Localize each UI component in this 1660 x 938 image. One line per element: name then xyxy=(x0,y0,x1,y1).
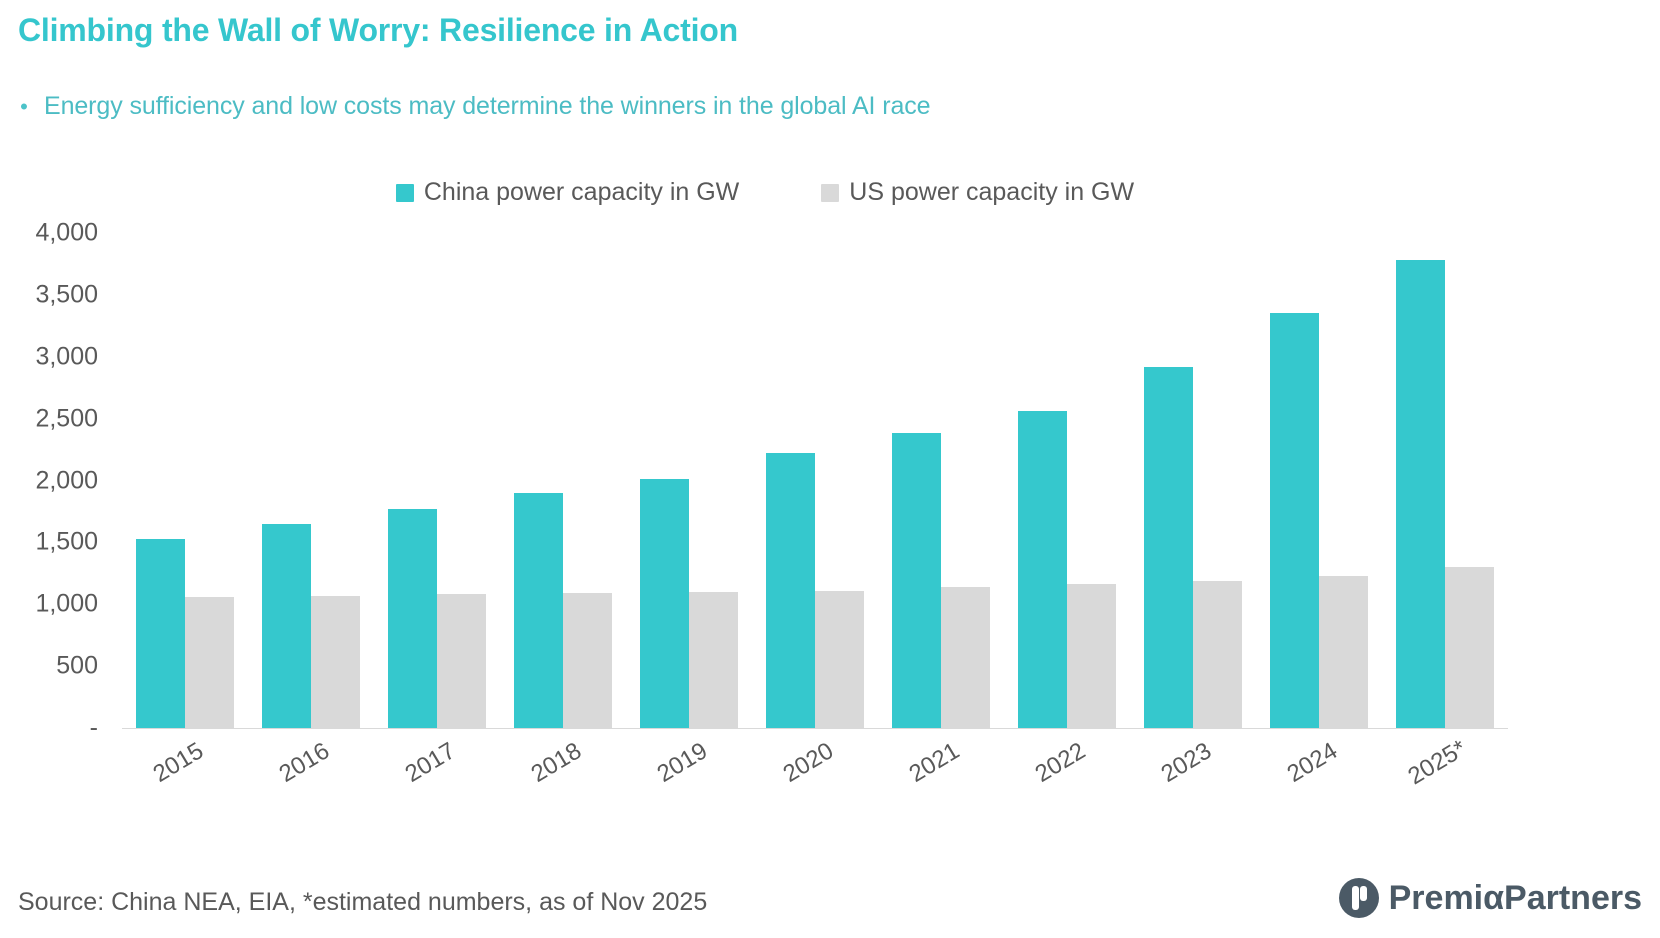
bar-china[interactable] xyxy=(892,433,941,728)
bar-group xyxy=(1130,233,1256,728)
plot-area xyxy=(122,233,1508,728)
x-axis-tick-label: 2019 xyxy=(653,737,713,788)
x-axis-tick-label: 2018 xyxy=(527,737,587,788)
legend-item[interactable]: US power capacity in GW xyxy=(821,178,1134,207)
bar-us[interactable] xyxy=(437,594,486,728)
x-axis-tick-label: 2015 xyxy=(149,737,209,788)
x-axis-label-cell: 2018 xyxy=(500,733,626,813)
x-axis-label-cell: 2020 xyxy=(752,733,878,813)
y-axis: 4,0003,5003,0002,5002,0001,5001,000500- xyxy=(0,233,110,728)
bar-china[interactable] xyxy=(640,479,689,728)
y-axis-tick-label: 3,000 xyxy=(35,342,98,371)
bar-group xyxy=(374,233,500,728)
x-axis-tick-label: 2024 xyxy=(1283,737,1343,788)
y-axis-tick-label: 1,500 xyxy=(35,528,98,557)
x-axis-label-cell: 2025* xyxy=(1382,733,1508,813)
bar-group xyxy=(878,233,1004,728)
brand-partners: Partners xyxy=(1504,879,1642,917)
bar-us[interactable] xyxy=(1193,581,1242,728)
x-axis-tick-label: 2022 xyxy=(1031,737,1091,788)
brand-logo: PremiαPartners xyxy=(1339,878,1642,918)
y-axis-tick-label: 4,000 xyxy=(35,219,98,248)
bar-us[interactable] xyxy=(1067,584,1116,728)
x-axis-line xyxy=(122,728,1508,730)
y-axis-tick-label: 3,500 xyxy=(35,280,98,309)
legend-item[interactable]: China power capacity in GW xyxy=(396,178,739,207)
y-axis-tick-label: 1,000 xyxy=(35,590,98,619)
x-axis-label-cell: 2016 xyxy=(248,733,374,813)
legend-label: US power capacity in GW xyxy=(849,178,1134,207)
bar-china[interactable] xyxy=(1396,260,1445,728)
brand-alpha: α xyxy=(1483,879,1504,917)
bar-china[interactable] xyxy=(262,524,311,728)
x-axis-tick-label: 2017 xyxy=(401,737,461,788)
bar-group xyxy=(1256,233,1382,728)
legend-swatch-icon xyxy=(396,184,414,202)
brand-premia: Premi xyxy=(1389,879,1484,917)
bar-group xyxy=(248,233,374,728)
x-axis-label-cell: 2022 xyxy=(1004,733,1130,813)
slide: Climbing the Wall of Worry: Resilience i… xyxy=(0,0,1660,938)
source-note: Source: China NEA, EIA, *estimated numbe… xyxy=(18,888,707,917)
y-axis-tick-label: 2,000 xyxy=(35,466,98,495)
bar-china[interactable] xyxy=(1270,313,1319,728)
x-axis-labels: 2015201620172018201920202021202220232024… xyxy=(122,733,1508,813)
x-axis-tick-label: 2025* xyxy=(1403,735,1471,791)
x-axis-tick-label: 2023 xyxy=(1157,737,1217,788)
bar-group xyxy=(626,233,752,728)
brand-name: PremiαPartners xyxy=(1389,879,1642,918)
x-axis-label-cell: 2015 xyxy=(122,733,248,813)
subtitle-text: Energy sufficiency and low costs may det… xyxy=(44,92,930,121)
x-axis-label-cell: 2019 xyxy=(626,733,752,813)
chart-legend: China power capacity in GWUS power capac… xyxy=(0,178,1530,207)
x-axis-label-cell: 2021 xyxy=(878,733,1004,813)
bar-us[interactable] xyxy=(941,587,990,728)
bar-china[interactable] xyxy=(1018,411,1067,728)
bar-us[interactable] xyxy=(563,593,612,728)
x-axis-label-cell: 2024 xyxy=(1256,733,1382,813)
premia-logo-icon xyxy=(1339,878,1379,918)
x-axis-tick-label: 2016 xyxy=(275,737,335,788)
bar-us[interactable] xyxy=(815,591,864,728)
y-axis-tick-label: - xyxy=(90,714,98,743)
x-axis-label-cell: 2023 xyxy=(1130,733,1256,813)
bar-china[interactable] xyxy=(514,493,563,728)
x-axis-label-cell: 2017 xyxy=(374,733,500,813)
legend-swatch-icon xyxy=(821,184,839,202)
bar-group xyxy=(752,233,878,728)
legend-label: China power capacity in GW xyxy=(424,178,739,207)
page-title: Climbing the Wall of Worry: Resilience i… xyxy=(18,12,738,49)
bar-china[interactable] xyxy=(388,509,437,728)
bar-us[interactable] xyxy=(185,597,234,728)
bar-us[interactable] xyxy=(311,596,360,728)
bar-group xyxy=(122,233,248,728)
y-axis-tick-label: 2,500 xyxy=(35,404,98,433)
x-axis-tick-label: 2021 xyxy=(905,737,965,788)
bar-us[interactable] xyxy=(1319,576,1368,728)
bars-layer xyxy=(122,233,1508,728)
subtitle-bullet-row: • Energy sufficiency and low costs may d… xyxy=(18,92,930,121)
bar-group xyxy=(1004,233,1130,728)
x-axis-tick-label: 2020 xyxy=(779,737,839,788)
bar-us[interactable] xyxy=(689,592,738,728)
bar-china[interactable] xyxy=(136,539,185,728)
bar-group xyxy=(500,233,626,728)
bullet-point-icon: • xyxy=(18,96,30,118)
bar-china[interactable] xyxy=(1144,367,1193,728)
bar-us[interactable] xyxy=(1445,567,1494,728)
y-axis-tick-label: 500 xyxy=(56,652,98,681)
bar-china[interactable] xyxy=(766,453,815,728)
bar-group xyxy=(1382,233,1508,728)
